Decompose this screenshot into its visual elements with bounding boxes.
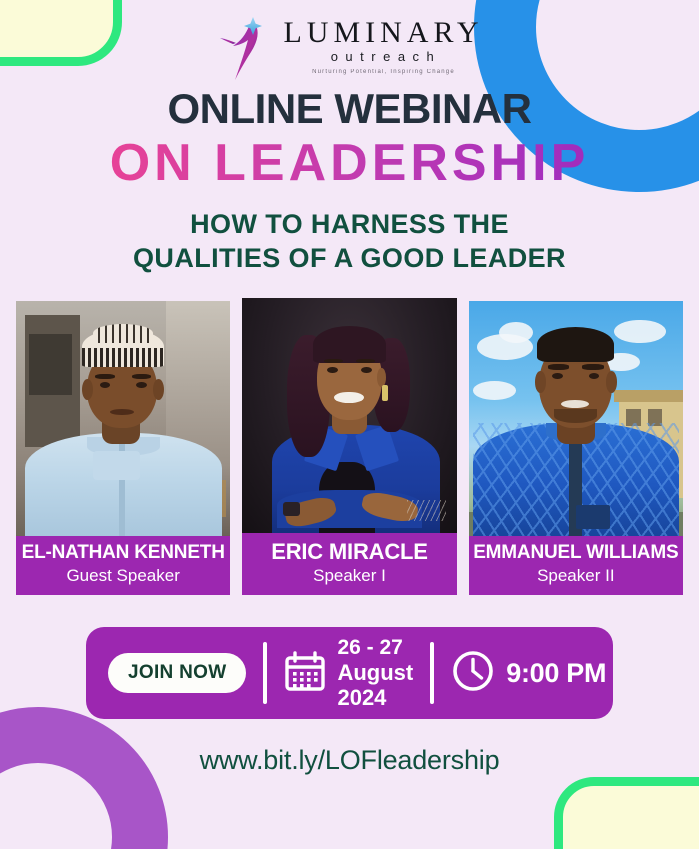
speakers-row: EL-NATHAN KENNETH Guest Speaker <box>0 298 699 595</box>
join-now-button[interactable]: JOIN NOW <box>108 653 246 693</box>
subtitle-line-1: HOW TO HARNESS THE <box>0 207 699 242</box>
calendar-icon <box>284 650 326 697</box>
speaker-name-2: ERIC MIRACLE <box>244 540 454 564</box>
cta-time-text: 9:00 PM <box>506 658 606 689</box>
speaker-card-3: EMMANUEL WILLIAMS Speaker II <box>469 301 683 595</box>
speaker-name-1: EL-NATHAN KENNETH <box>18 543 228 564</box>
cta-date-group: 26 - 27 August 2024 <box>284 636 413 710</box>
cta-date-text: 26 - 27 August 2024 <box>337 636 413 710</box>
registration-url[interactable]: www.bit.ly/LOFleadership <box>0 745 699 776</box>
speaker-card-1: EL-NATHAN KENNETH Guest Speaker <box>16 301 230 595</box>
cta-time-group: 9:00 PM <box>451 649 606 698</box>
subtitle-line-2: QUALITIES OF A GOOD LEADER <box>0 241 699 276</box>
cta-date-month-year: August 2024 <box>337 660 413 710</box>
cta-divider-2 <box>430 642 434 704</box>
speaker-photo-3 <box>469 301 683 536</box>
speaker-role-2: Speaker I <box>244 565 454 586</box>
speaker-name-3: EMMANUEL WILLIAMS <box>471 543 681 564</box>
corner-shape-bottom-right <box>554 777 699 849</box>
cta-divider-1 <box>263 642 267 704</box>
speaker-photo-2 <box>242 298 456 533</box>
brand-subname: outreach <box>326 49 442 65</box>
speaker-namebar-2: ERIC MIRACLE Speaker I <box>242 533 456 595</box>
cta-date-days: 26 - 27 <box>337 636 413 660</box>
speaker-namebar-1: EL-NATHAN KENNETH Guest Speaker <box>16 536 230 595</box>
cta-bar-wrapper: JOIN NOW <box>0 627 699 719</box>
speaker-role-1: Guest Speaker <box>18 565 228 586</box>
webinar-flyer: LUMINARY outreach Nurturing Potential, I… <box>0 0 699 849</box>
brand-name: LUMINARY <box>283 18 483 48</box>
speaker-photo-1 <box>16 301 230 536</box>
speaker-namebar-3: EMMANUEL WILLIAMS Speaker II <box>469 536 683 595</box>
speaker-role-3: Speaker II <box>471 565 681 586</box>
cta-bar: JOIN NOW <box>86 627 613 719</box>
headline-on-leadership: ON LEADERSHIP <box>0 136 699 191</box>
brand-tagline: Nurturing Potential, Inspiring Change <box>312 69 455 76</box>
brand-logo: LUMINARY outreach Nurturing Potential, I… <box>0 0 699 84</box>
clock-icon <box>451 649 495 698</box>
headline-online-webinar: ONLINE WEBINAR <box>0 88 699 130</box>
subtitle: HOW TO HARNESS THE QUALITIES OF A GOOD L… <box>0 207 699 276</box>
luminary-figure-star-logo-icon <box>215 10 277 84</box>
speaker-card-2: ERIC MIRACLE Speaker I <box>242 298 456 595</box>
